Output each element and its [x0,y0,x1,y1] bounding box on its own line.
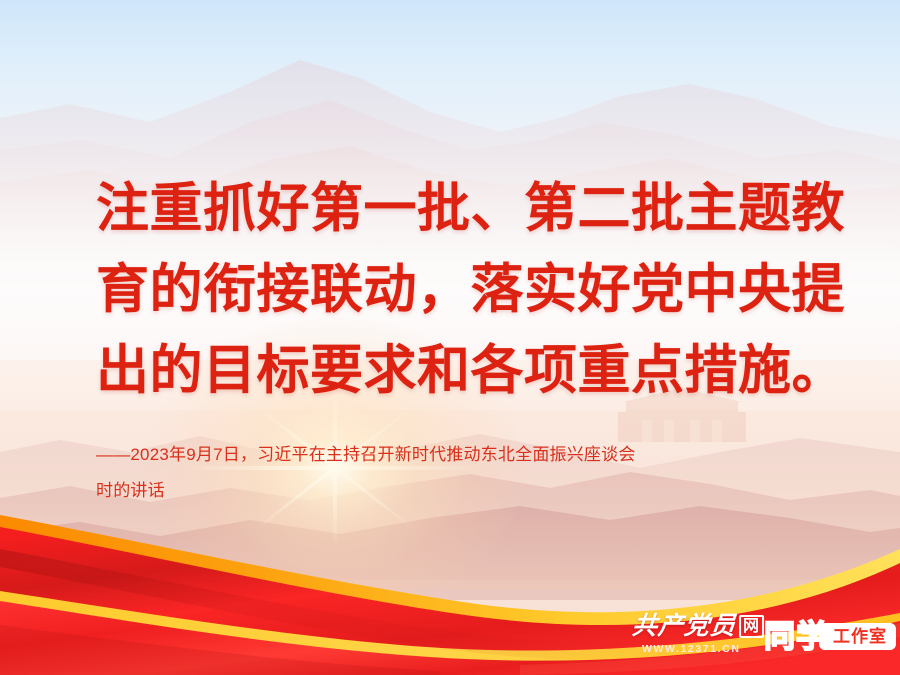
headline-line-2: 育的衔接联动，落实好党中央提 [96,249,836,330]
headline-line-3: 出的目标要求和各项重点措施。 [96,330,836,411]
gcdy-wordmark: 共产党员网 [630,612,765,642]
logo-tongxue-studio[interactable]: 同学 工作室 [764,616,896,656]
attribution-line-1: ——2023年9月7日，习近平在主持召开新时代推动东北全面振兴座谈会 [96,437,841,473]
poster-canvas: 注重抓好第一批、第二批主题教 育的衔接联动，落实好党中央提 出的目标要求和各项重… [0,0,900,675]
logo-block: 共产党员网 WWW.12371.CN 同学 工作室 [632,612,896,660]
quote-attribution: ——2023年9月7日，习近平在主持召开新时代推动东北全面振兴座谈会 时的讲话 [96,437,841,509]
gcdy-wordmark-text: 共产党员 [631,613,738,640]
gcdy-wordmark-net: 网 [739,615,764,638]
attribution-line-2: 时的讲话 [96,473,841,509]
headline-line-1: 注重抓好第一批、第二批主题教 [96,168,836,249]
gcdy-url-text: WWW.12371.CN [642,643,741,655]
headline-quote: 注重抓好第一批、第二批主题教 育的衔接联动，落实好党中央提 出的目标要求和各项重… [96,168,836,411]
studio-pill-text: 工作室 [819,623,896,650]
studio-name-text: 同学 [764,621,828,652]
logo-gongchandangyuan[interactable]: 共产党员网 WWW.12371.CN [632,612,750,660]
